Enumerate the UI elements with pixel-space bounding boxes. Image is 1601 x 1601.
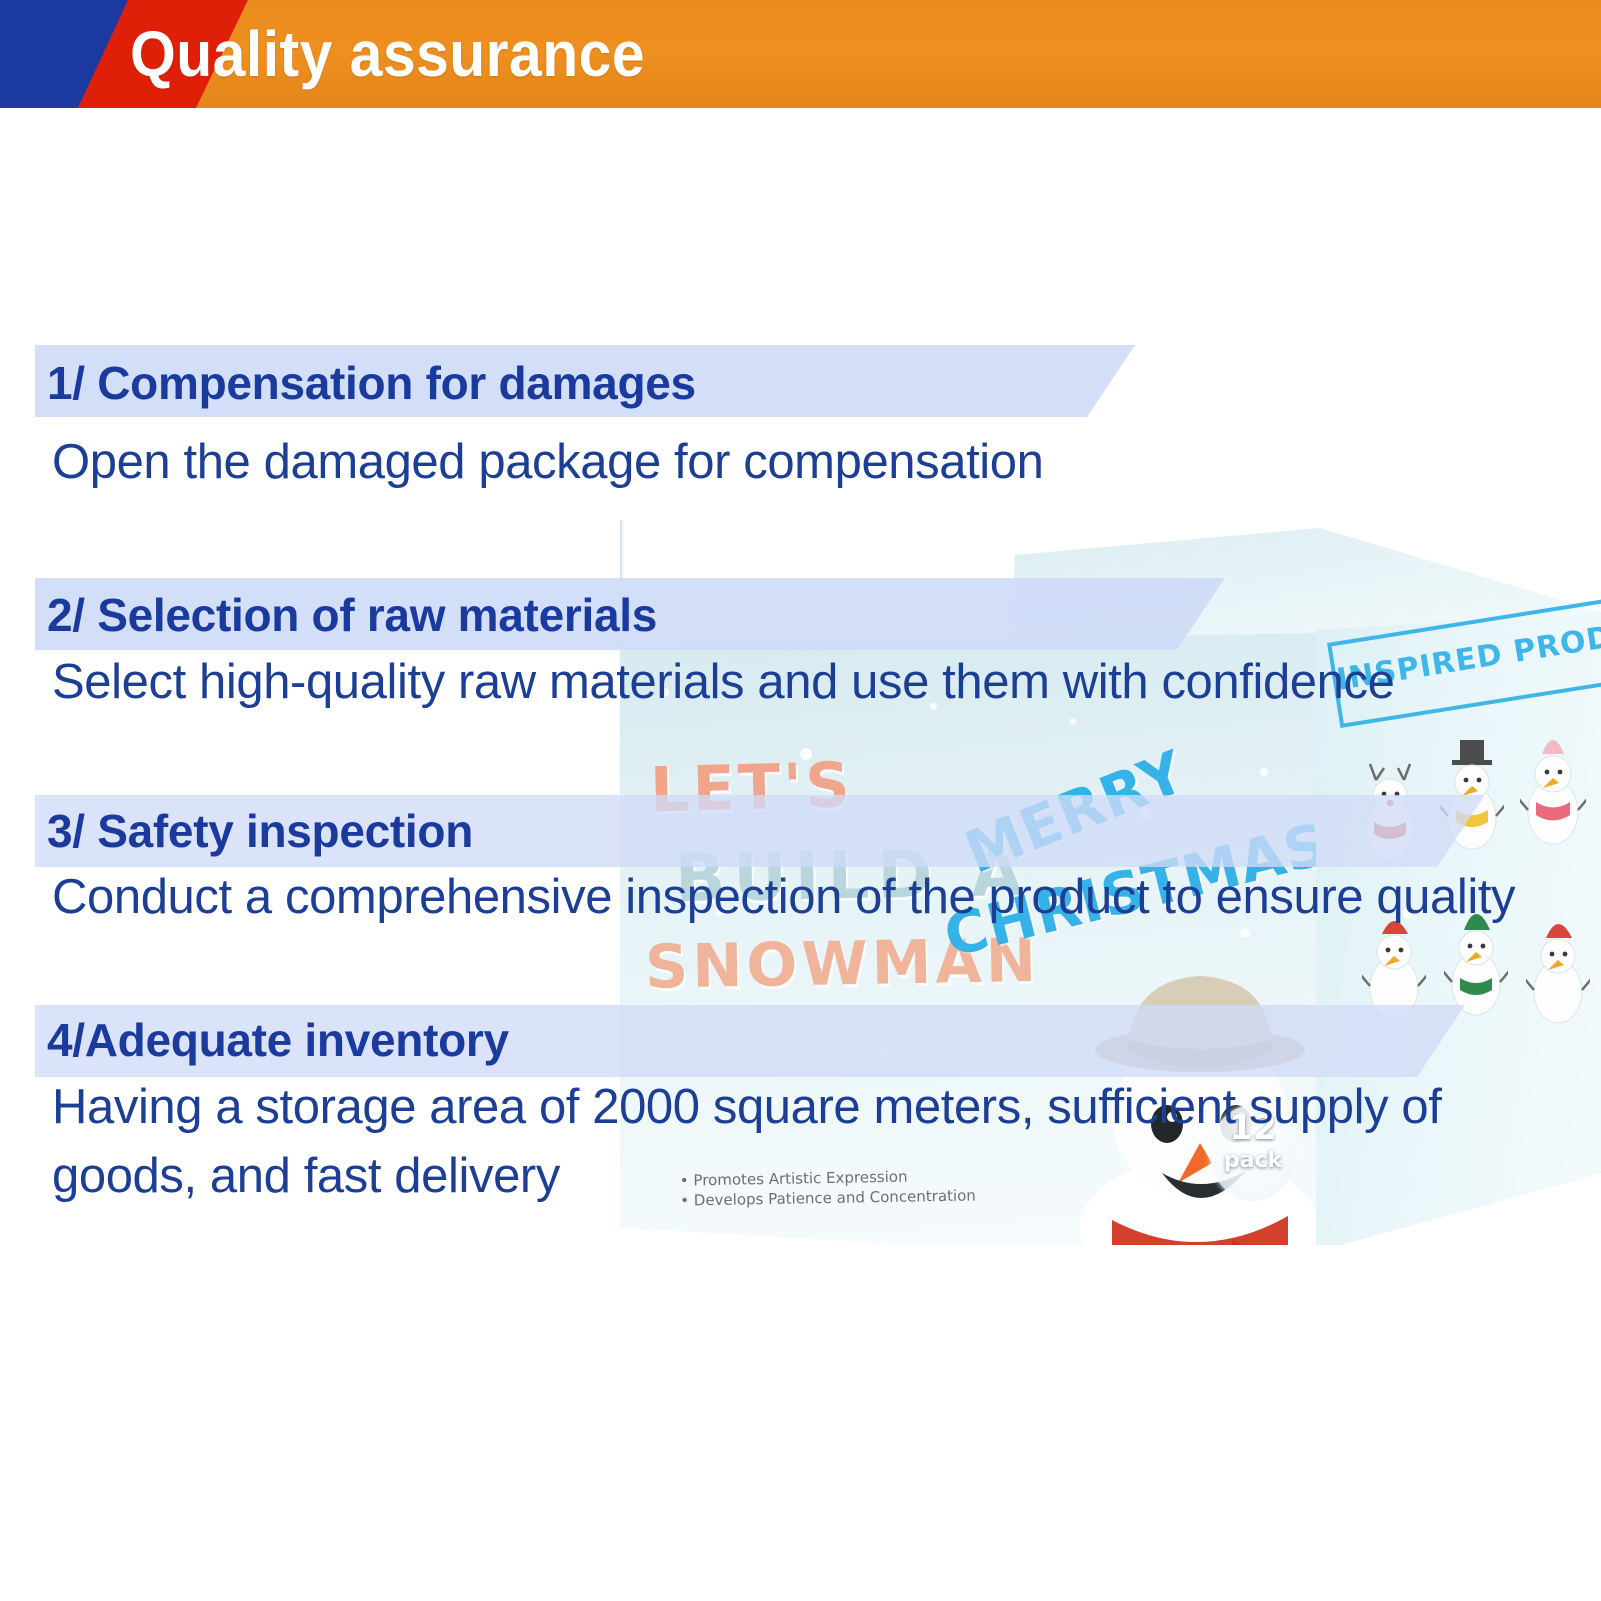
section-3-heading: 3/ Safety inspection: [47, 804, 473, 858]
section-1-heading: 1/ Compensation for damages: [47, 356, 696, 410]
section-3-body: Conduct a comprehensive inspection of th…: [52, 863, 1562, 932]
quality-assurance-list: 1/ Compensation for damages Open the dam…: [0, 0, 1601, 1601]
section-2-body: Select high-quality raw materials and us…: [52, 648, 1552, 717]
section-4-heading: 4/Adequate inventory: [47, 1013, 509, 1067]
section-4-body: Having a storage area of 2000 square met…: [52, 1073, 1597, 1211]
section-1-body: Open the damaged package for compensatio…: [52, 428, 1502, 497]
section-2-heading: 2/ Selection of raw materials: [47, 588, 657, 642]
